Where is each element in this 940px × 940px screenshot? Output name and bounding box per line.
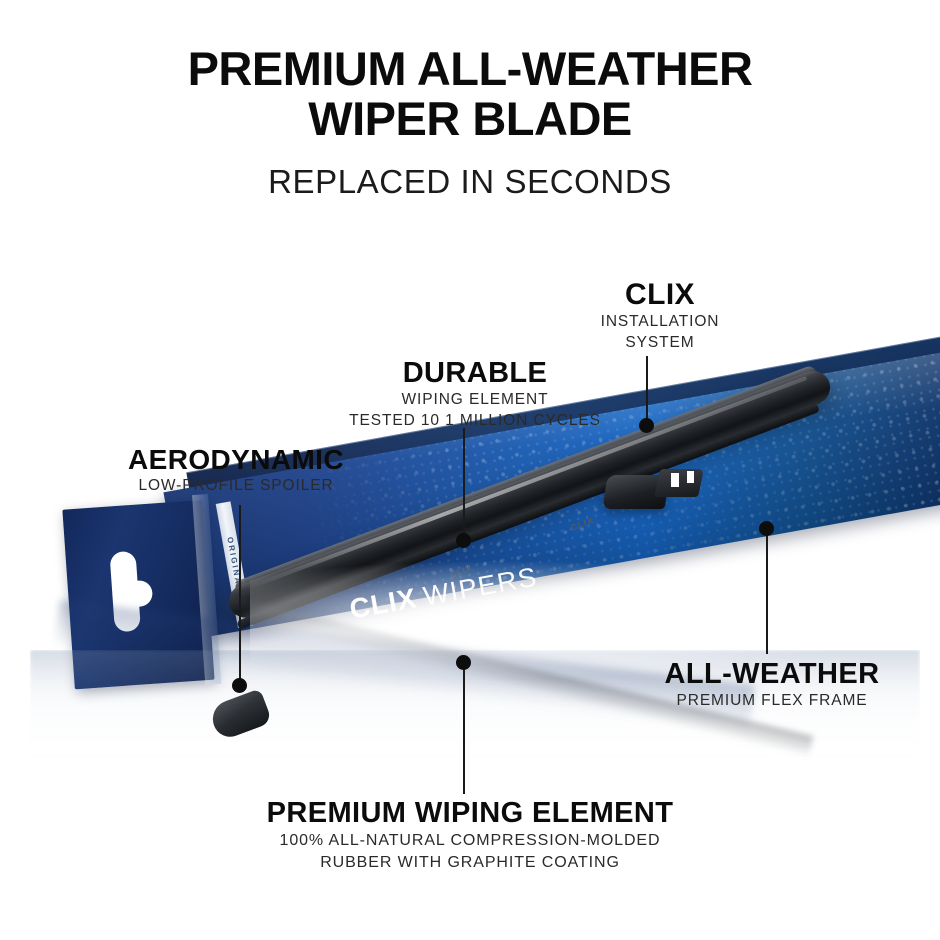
callout-aerodynamic: AERODYNAMIC LOW-PROFILE SPOILER [60,444,412,497]
leader-line-premium-wiping-element [463,668,465,794]
blade-rubber-element [236,403,820,630]
callout-premium-wiping-element-sub2: RUBBER WITH GRAPHITE COATING [200,852,740,874]
callout-aerodynamic-sub1: LOW-PROFILE SPOILER [60,476,412,497]
callout-aerodynamic-title: AERODYNAMIC [60,444,412,476]
callout-all-weather-title: ALL-WEATHER [612,658,932,691]
blade-emboss-clix-2: CLIX [449,563,473,579]
callout-clix-sub2: SYSTEM [529,333,791,354]
leader-line-aerodynamic [239,505,241,685]
page-subtitle: REPLACED IN SECONDS [0,163,940,201]
connector-clip [654,469,704,497]
connector-notch-1 [671,473,679,487]
callout-clix: CLIX INSTALLATION SYSTEM [529,278,791,354]
leader-dot-durable [456,533,471,548]
callout-clix-sub1: INSTALLATION [529,312,791,333]
callout-premium-wiping-element-sub1: 100% ALL-NATURAL COMPRESSION-MOLDED [200,830,740,852]
leader-line-all-weather [766,534,768,654]
clix-connector [605,467,701,511]
page-title-line1: PREMIUM ALL-WEATHER [188,42,753,95]
leader-dot-aerodynamic [232,678,247,693]
callout-premium-wiping-element-title: PREMIUM WIPING ELEMENT [200,797,740,830]
page-title-line2: WIPER BLADE [0,94,940,144]
blade-emboss-clix-1: CLIX [569,515,595,533]
callout-durable-sub1: WIPING ELEMENT [300,390,650,411]
page-title: PREMIUM ALL-WEATHER WIPER BLADE [0,44,940,144]
callout-durable: DURABLE WIPING ELEMENT TESTED 10 1 MILLI… [300,357,650,432]
callout-premium-wiping-element: PREMIUM WIPING ELEMENT 100% ALL-NATURAL … [200,797,740,873]
callout-durable-title: DURABLE [300,357,650,390]
connector-notch-2 [687,471,694,483]
callout-all-weather: ALL-WEATHER PREMIUM FLEX FRAME [612,658,932,712]
leader-dot-all-weather [759,521,774,536]
callout-all-weather-sub1: PREMIUM FLEX FRAME [612,691,932,712]
callout-durable-sub2: TESTED 10 1 MILLION CYCLES [300,411,650,432]
leader-dot-premium-wiping-element [456,655,471,670]
callout-clix-title: CLIX [529,278,791,312]
leader-line-durable [463,428,465,540]
infographic-canvas: PREMIUM ALL-WEATHER WIPER BLADE REPLACED… [0,0,940,940]
